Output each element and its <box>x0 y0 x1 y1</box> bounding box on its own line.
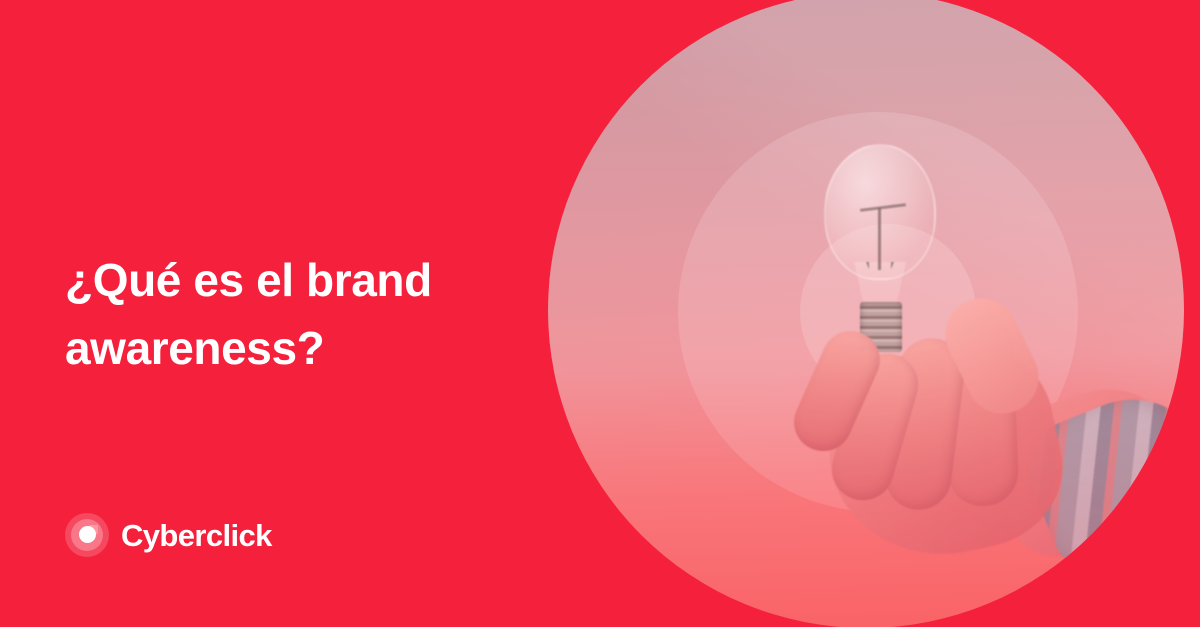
logo-wordmark: Cyberclick <box>121 520 272 551</box>
logo-center-dot <box>79 526 96 543</box>
headline-line-2: awareness? <box>65 314 495 382</box>
cyberclick-concentric-circles-icon <box>65 513 109 557</box>
headline-line-1: ¿Qué es el brand <box>65 246 495 314</box>
brand-logo[interactable]: Cyberclick <box>65 512 272 558</box>
page-title: ¿Qué es el brand awareness? <box>65 246 495 382</box>
red-duotone-overlay <box>548 0 1184 627</box>
social-card: ¿Qué es el brand awareness? Cyberclick <box>0 0 1200 627</box>
circular-image-panel <box>548 0 1184 627</box>
